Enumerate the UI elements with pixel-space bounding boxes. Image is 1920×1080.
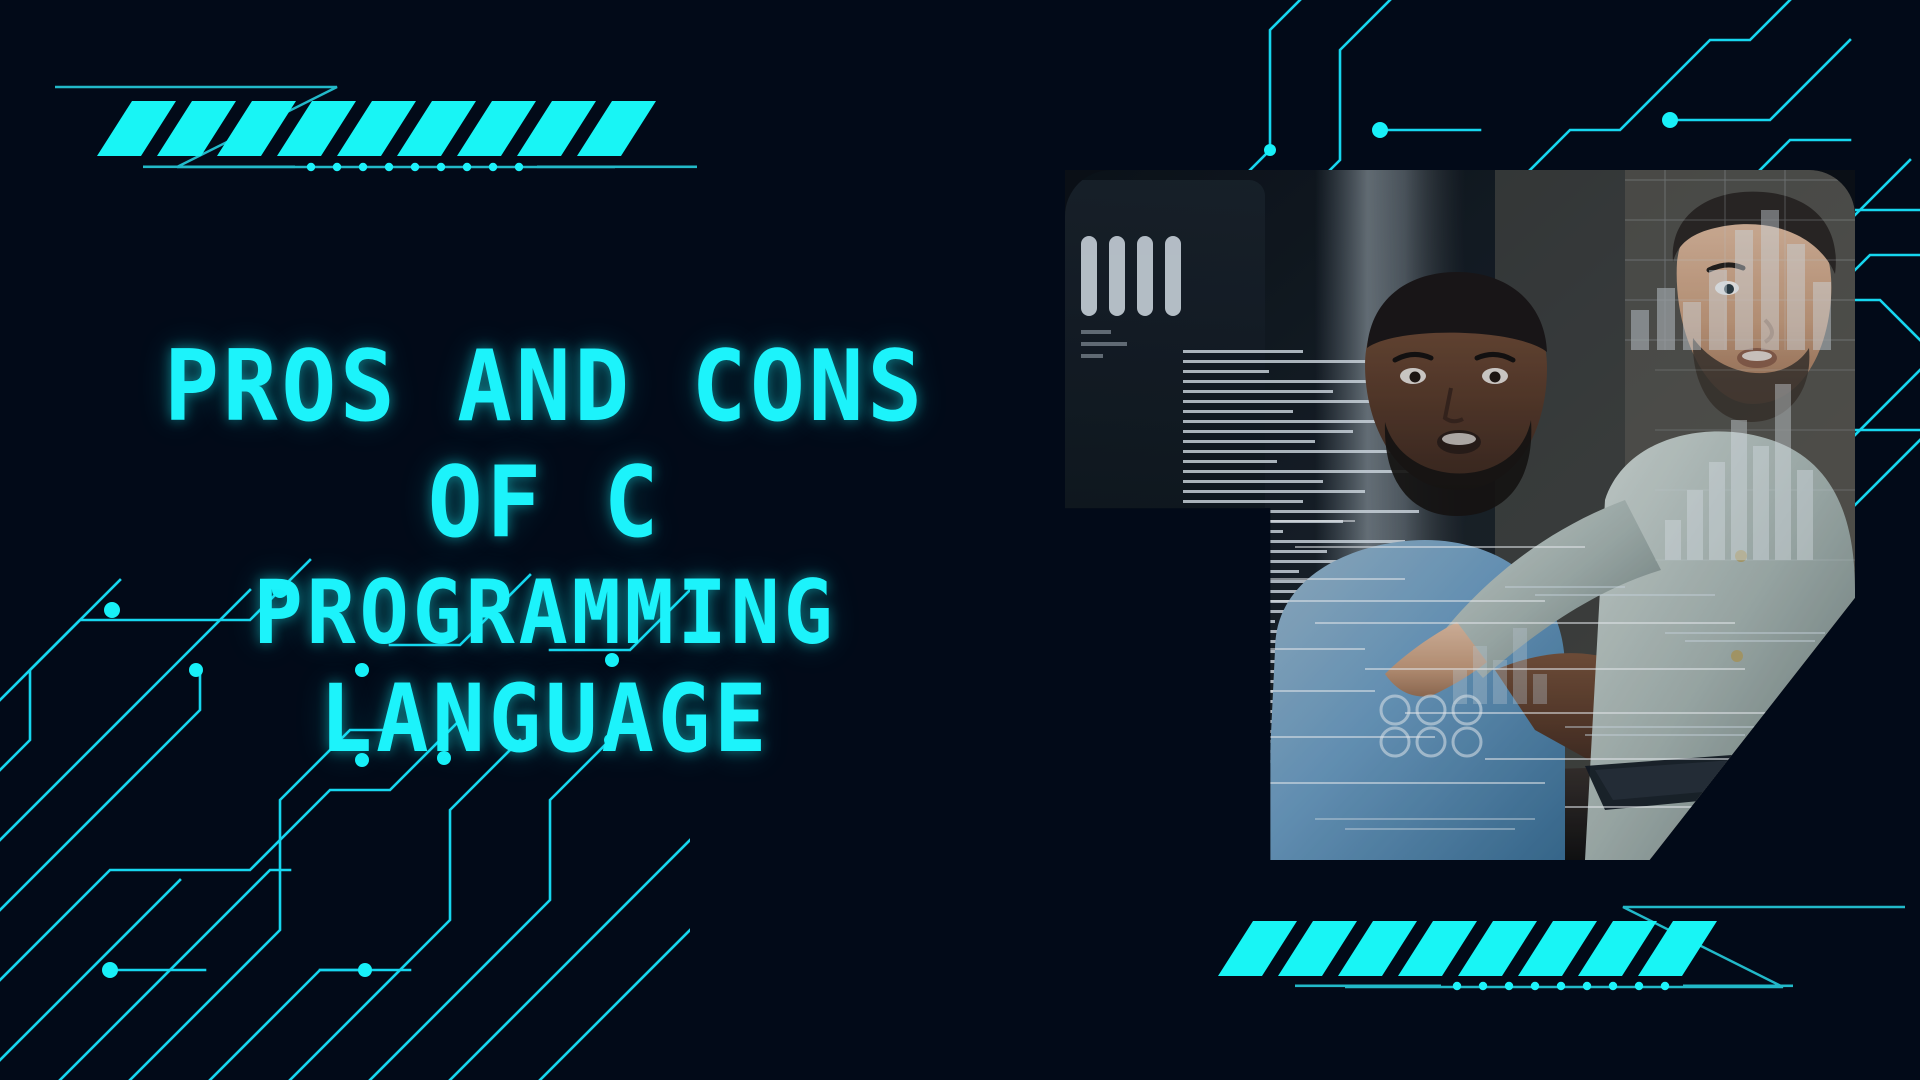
- poster-canvas: PROS AND CONS OF C PROGRAMMING LANGUAGE: [0, 0, 1920, 1080]
- title-line-2: OF C: [75, 446, 1014, 562]
- page-title: PROS AND CONS OF C PROGRAMMING LANGUAGE: [40, 330, 1050, 776]
- striped-banner-top: [55, 55, 775, 175]
- team-coding-photo: [1065, 170, 1855, 860]
- title-line-4: LANGUAGE: [75, 665, 1014, 776]
- photo-illustration: [1065, 170, 1855, 860]
- title-line-3: PROGRAMMING: [75, 561, 1014, 665]
- striped-banner-bottom: [1185, 895, 1905, 1015]
- title-line-1: PROS AND CONS: [75, 330, 1014, 446]
- banner-stripes: [1218, 921, 1717, 976]
- banner-stripes: [97, 101, 656, 156]
- photo-rounded-mask: [1065, 170, 1855, 860]
